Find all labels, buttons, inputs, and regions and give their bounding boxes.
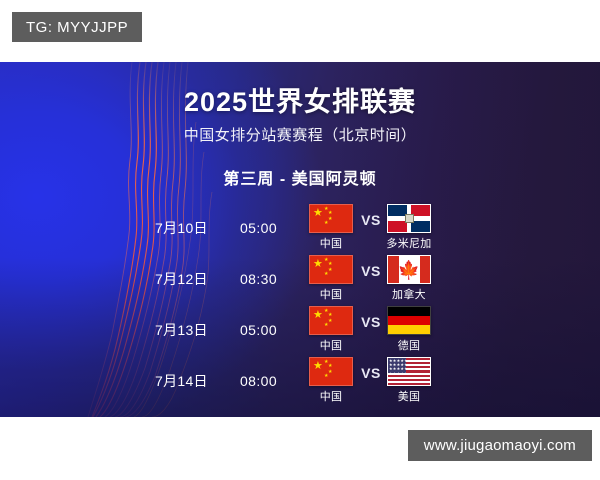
poster-subtitle: 中国女排分站赛赛程（北京时间） bbox=[0, 124, 600, 145]
match-row: 7月13日 05:00 ★ ★ ★ ★ ★ 中国 VS bbox=[0, 304, 600, 355]
website-watermark-label: www.jiugaomaoyi.com bbox=[424, 437, 576, 454]
flag-canton-stars: ★★★★★★★★★★★★★★★★★★★★★★★★ bbox=[388, 358, 406, 373]
china-flag: ★ ★ ★ ★ ★ bbox=[309, 306, 353, 335]
china-flag: ★ ★ ★ ★ ★ bbox=[309, 255, 353, 284]
flag-star-icon: ★ bbox=[324, 374, 328, 379]
away-team: 德国 bbox=[378, 306, 440, 353]
home-team: ★ ★ ★ ★ ★ 中国 bbox=[300, 306, 362, 353]
match-row: 7月14日 08:00 ★ ★ ★ ★ ★ 中国 VS bbox=[0, 355, 600, 406]
away-team-name: 美国 bbox=[378, 388, 440, 404]
match-row: 7月12日 08:30 ★ ★ ★ ★ ★ 中国 VS bbox=[0, 253, 600, 304]
match-row: 7月10日 05:00 ★ ★ ★ ★ ★ 中国 VS bbox=[0, 202, 600, 253]
away-team: ★★★★★★★★★★★★★★★★★★★★★★★★ 美国 bbox=[378, 357, 440, 404]
flag-star-icon: ★ bbox=[324, 221, 328, 226]
china-flag: ★ ★ ★ ★ ★ bbox=[309, 357, 353, 386]
poster-week-location-label: 第三周 - 美国阿灵顿 bbox=[0, 165, 600, 189]
away-team: 🍁 加拿大 bbox=[378, 255, 440, 302]
home-team: ★ ★ ★ ★ ★ 中国 bbox=[300, 204, 362, 251]
poster-content: 2025世界女排联赛 中国女排分站赛赛程（北京时间） 第三周 - 美国阿灵顿 7… bbox=[0, 62, 600, 417]
usa-flag: ★★★★★★★★★★★★★★★★★★★★★★★★ bbox=[387, 357, 431, 386]
flag-star-icon: ★ bbox=[328, 319, 332, 324]
away-team-name: 德国 bbox=[378, 337, 440, 353]
away-team: 多米尼加 bbox=[378, 204, 440, 251]
away-team-name: 加拿大 bbox=[378, 286, 440, 302]
flag-star-icon: ★ bbox=[328, 370, 332, 375]
home-team-name: 中国 bbox=[300, 388, 362, 404]
flag-star-icon: ★ bbox=[313, 361, 323, 372]
flag-star-icon: ★ bbox=[313, 259, 323, 270]
website-watermark-badge: www.jiugaomaoyi.com bbox=[408, 430, 592, 461]
telegram-watermark-label: TG: MYYJJPP bbox=[26, 19, 128, 36]
germany-flag bbox=[387, 306, 431, 335]
home-team: ★ ★ ★ ★ ★ 中国 bbox=[300, 357, 362, 404]
match-date: 7月13日 bbox=[155, 320, 241, 340]
match-time: 05:00 bbox=[240, 220, 302, 236]
flag-star-icon: ★ bbox=[328, 268, 332, 273]
match-time: 08:00 bbox=[240, 373, 302, 389]
away-team-name: 多米尼加 bbox=[378, 235, 440, 251]
home-team-name: 中国 bbox=[300, 337, 362, 353]
flag-crest-icon bbox=[405, 214, 414, 223]
flag-star-icon: ★ bbox=[313, 310, 323, 321]
poster-title: 2025世界女排联赛 bbox=[0, 80, 600, 119]
match-time: 05:00 bbox=[240, 322, 302, 338]
schedule-poster-image: 2025世界女排联赛 中国女排分站赛赛程（北京时间） 第三周 - 美国阿灵顿 7… bbox=[0, 62, 600, 417]
canada-flag: 🍁 bbox=[387, 255, 431, 284]
match-date: 7月12日 bbox=[155, 269, 241, 289]
flag-star-icon: ★ bbox=[328, 217, 332, 222]
maple-leaf-icon: 🍁 bbox=[398, 261, 420, 279]
home-team-name: 中国 bbox=[300, 235, 362, 251]
match-schedule-list: 7月10日 05:00 ★ ★ ★ ★ ★ 中国 VS bbox=[0, 202, 600, 406]
match-time: 08:30 bbox=[240, 271, 302, 287]
flag-star-icon: ★ bbox=[324, 323, 328, 328]
match-date: 7月14日 bbox=[155, 371, 241, 391]
flag-star-icon: ★ bbox=[324, 272, 328, 277]
dominican-republic-flag bbox=[387, 204, 431, 233]
flag-star-icon: ★ bbox=[313, 208, 323, 219]
match-date: 7月10日 bbox=[155, 218, 241, 238]
china-flag: ★ ★ ★ ★ ★ bbox=[309, 204, 353, 233]
telegram-watermark-badge: TG: MYYJJPP bbox=[12, 12, 142, 42]
home-team-name: 中国 bbox=[300, 286, 362, 302]
home-team: ★ ★ ★ ★ ★ 中国 bbox=[300, 255, 362, 302]
